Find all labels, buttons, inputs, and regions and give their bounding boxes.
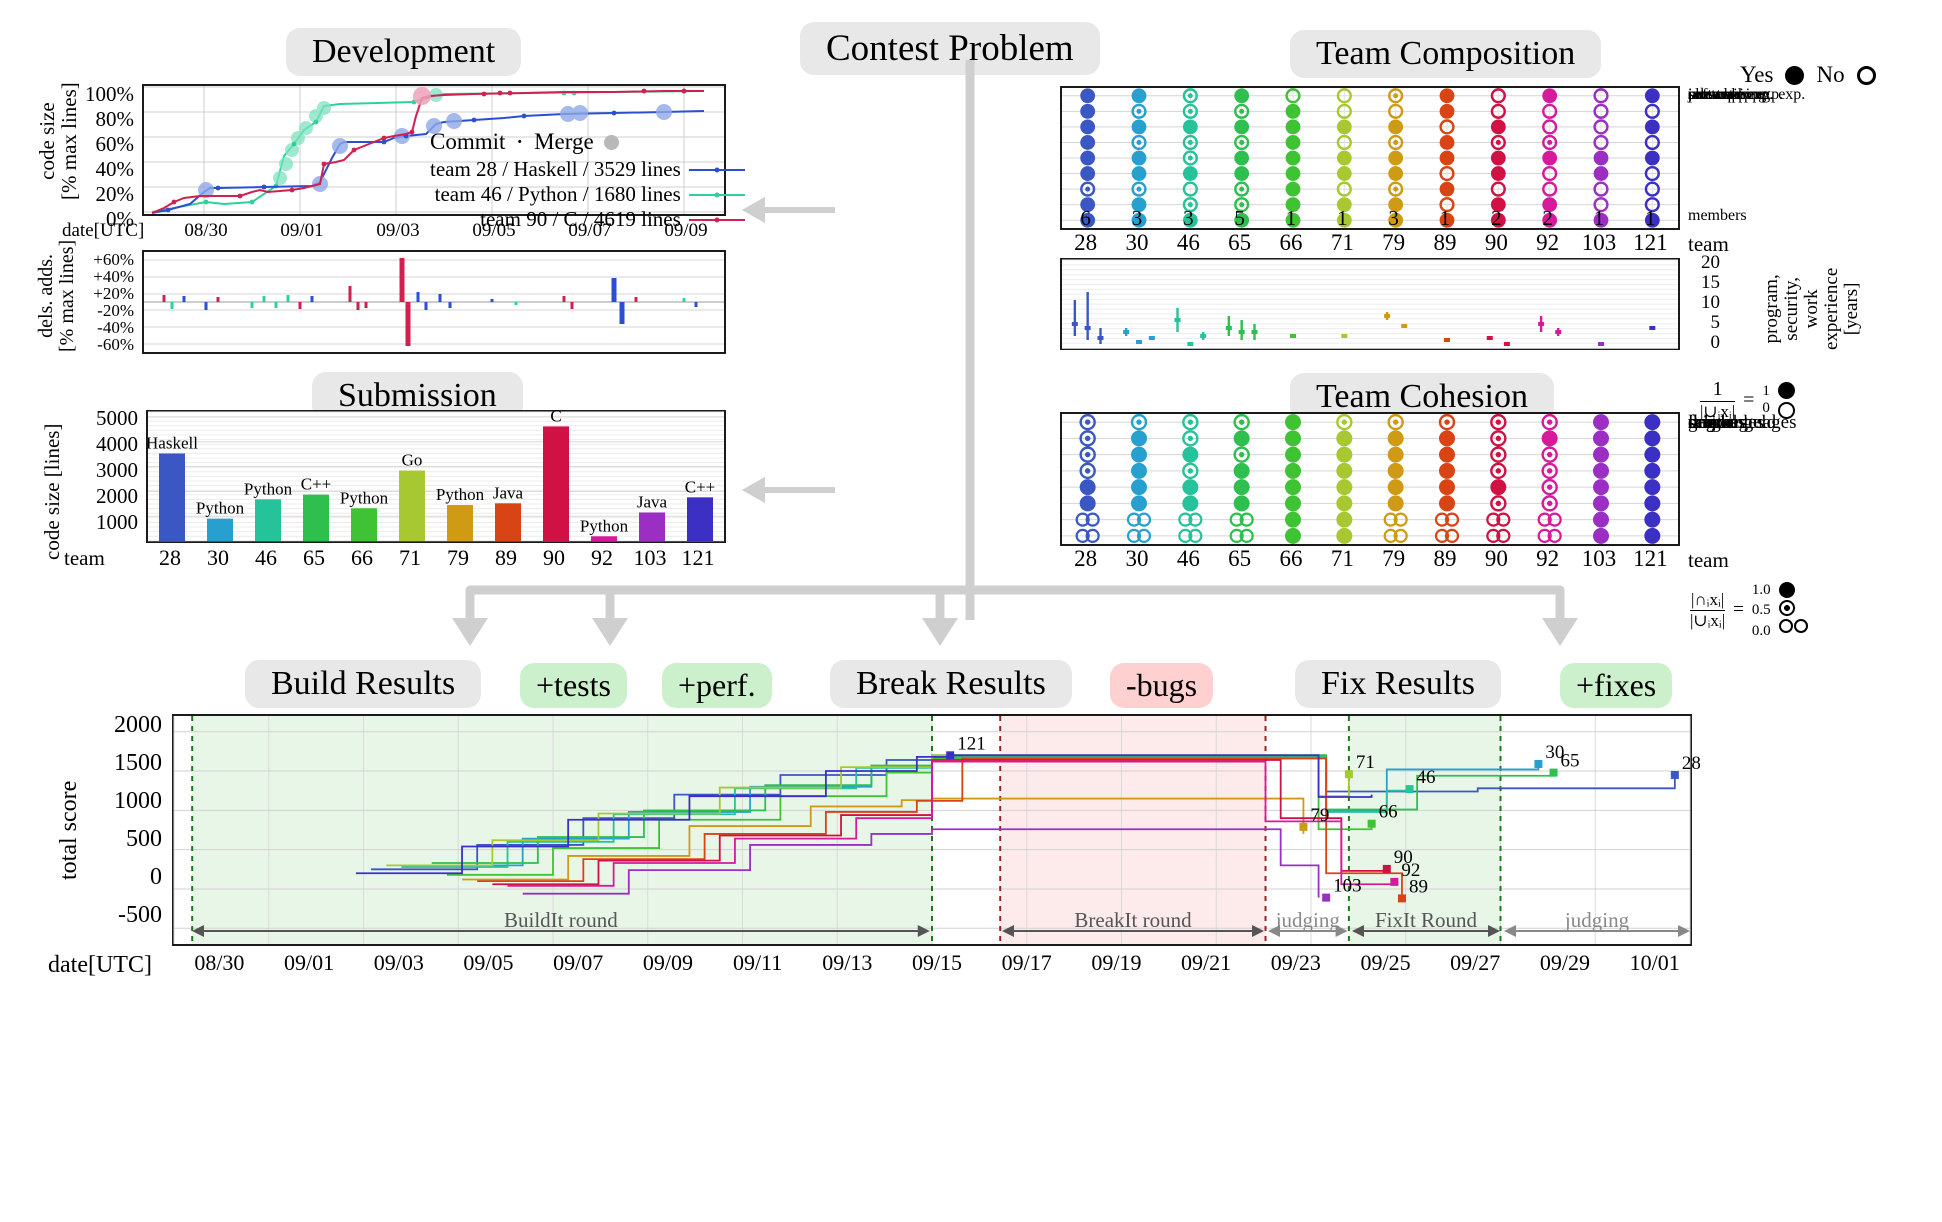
filled-circle-icon bbox=[1388, 447, 1404, 463]
filled-circle-icon bbox=[1286, 135, 1301, 150]
filled-circle-icon bbox=[1131, 495, 1147, 511]
filled-circle-icon bbox=[1080, 479, 1096, 495]
filled-circle-icon bbox=[1080, 104, 1095, 119]
panel-title-contest-problem: Contest Problem bbox=[800, 22, 1100, 75]
timeline-endpoint-marker bbox=[946, 751, 954, 759]
composition-team-tick: 66 bbox=[1280, 230, 1303, 256]
filled-circle-icon bbox=[1440, 88, 1455, 103]
tag-bugs: -bugs bbox=[1110, 663, 1213, 708]
composition-team-tick: 30 bbox=[1126, 230, 1149, 256]
inter-formula-num: |∩ᵢxᵢ| bbox=[1690, 590, 1725, 611]
timeline-xtick: 09/01 bbox=[284, 950, 334, 976]
timeline-endpoint-label: 121 bbox=[957, 733, 986, 754]
filled-circle-icon bbox=[1593, 479, 1609, 495]
filled-circle-icon bbox=[1285, 414, 1301, 430]
filled-circle-icon bbox=[1439, 463, 1455, 479]
filled-circle-icon bbox=[1080, 166, 1095, 181]
filled-circle-icon bbox=[1388, 151, 1403, 166]
round-label: BreakIt round bbox=[1075, 908, 1193, 932]
round-label: judging bbox=[1275, 908, 1341, 932]
inter-eq: = bbox=[1733, 599, 1744, 621]
submission-xlabel: team bbox=[64, 546, 105, 571]
composition-team-tick: 89 bbox=[1434, 230, 1457, 256]
cohesion-row-label: languages bbox=[1688, 412, 1764, 434]
development-legend-entry: team 46 / Python / 1680 lines bbox=[430, 182, 745, 207]
filled-circle-icon bbox=[1440, 182, 1455, 197]
filled-circle-icon bbox=[1286, 166, 1301, 181]
filled-circle-icon bbox=[1593, 414, 1609, 430]
filled-circle-icon bbox=[1336, 495, 1352, 511]
submission-bar-language: Python bbox=[436, 485, 485, 504]
cohesion-team-tick: 65 bbox=[1228, 546, 1251, 572]
experience-median bbox=[1341, 334, 1347, 338]
filled-circle-icon bbox=[1286, 182, 1301, 197]
panel-title-build-results: Build Results bbox=[245, 660, 481, 708]
filled-circle-icon bbox=[1439, 447, 1455, 463]
filled-circle-icon bbox=[1285, 463, 1301, 479]
filled-circle-icon bbox=[1234, 495, 1250, 511]
filled-circle-icon bbox=[1440, 151, 1455, 166]
legend-entry-label: team 28 / Haskell / 3529 lines bbox=[430, 157, 681, 182]
tag-perf: +perf. bbox=[662, 663, 772, 708]
filled-circle-icon bbox=[1785, 66, 1804, 85]
filled-circle-icon bbox=[1336, 512, 1352, 528]
filled-circle-icon bbox=[1131, 463, 1147, 479]
filled-circle-icon bbox=[1644, 479, 1660, 495]
filled-circle-icon bbox=[1132, 166, 1147, 181]
composition-team-tick: 121 bbox=[1633, 230, 1668, 256]
filled-circle-icon bbox=[1132, 119, 1147, 134]
timeline-endpoint-label: 66 bbox=[1379, 802, 1398, 823]
experience-plot bbox=[1060, 258, 1680, 350]
tag-fixes: +fixes bbox=[1560, 663, 1672, 708]
submission-bar-language: C++ bbox=[301, 475, 332, 494]
filled-circle-icon bbox=[1132, 151, 1147, 166]
submission-bar-language: Python bbox=[244, 479, 293, 498]
submission-xtick: 71 bbox=[399, 545, 421, 571]
filled-circle-icon bbox=[1490, 479, 1506, 495]
submission-bar-language: Python bbox=[580, 516, 629, 535]
filled-circle-icon bbox=[1131, 479, 1147, 495]
submission-xtick: 28 bbox=[159, 545, 181, 571]
timeline-endpoint-marker bbox=[1368, 820, 1376, 828]
team-cohesion-team-label: team bbox=[1688, 548, 1729, 573]
filled-circle-icon bbox=[1593, 463, 1609, 479]
filled-circle-icon bbox=[1182, 447, 1198, 463]
filled-circle-icon bbox=[1285, 528, 1301, 544]
submission-bar bbox=[687, 497, 713, 541]
development-xlabel: date[UTC] bbox=[62, 220, 144, 242]
timeline-endpoint-marker bbox=[1671, 771, 1679, 779]
filled-circle-icon bbox=[1388, 119, 1403, 134]
timeline-endpoint-label: 103 bbox=[1333, 876, 1362, 897]
composition-team-tick: 46 bbox=[1177, 230, 1200, 256]
deltas-ytick: -60% bbox=[97, 335, 134, 355]
filled-circle-icon bbox=[1234, 166, 1249, 181]
round-label: judging bbox=[1564, 908, 1630, 932]
cohesion-team-tick: 28 bbox=[1074, 546, 1097, 572]
timeline-xtick: 09/07 bbox=[553, 950, 603, 976]
filled-circle-icon bbox=[1644, 430, 1660, 446]
timeline-endpoint-marker bbox=[1383, 865, 1391, 873]
submission-bar-language: Java bbox=[493, 483, 524, 502]
development-legend: Commit · Merge team 28 / Haskell / 3529 … bbox=[430, 127, 745, 232]
timeline-ytick: -500 bbox=[118, 902, 162, 929]
timeline-endpoint-marker bbox=[1550, 769, 1558, 777]
filled-circle-icon bbox=[1336, 479, 1352, 495]
experience-median bbox=[1175, 318, 1181, 322]
filled-circle-icon bbox=[1644, 495, 1660, 511]
member-count: 3 bbox=[1132, 206, 1143, 231]
submission-bar-language: C bbox=[550, 406, 561, 425]
development-legend-entry: team 28 / Haskell / 3529 lines bbox=[430, 157, 745, 182]
cohesion-team-tick: 79 bbox=[1382, 546, 1405, 572]
panel-title-development: Development bbox=[286, 28, 521, 76]
round-arrow-icon: judging bbox=[1502, 905, 1692, 941]
arrow-to-submission bbox=[730, 470, 850, 510]
open-circle-icon bbox=[1857, 66, 1876, 85]
experience-ytick: 5 bbox=[1711, 312, 1721, 334]
cohesion-team-tick: 89 bbox=[1434, 546, 1457, 572]
filled-circle-icon bbox=[1593, 447, 1609, 463]
filled-circle-icon bbox=[1645, 119, 1660, 134]
legend-no-label: No bbox=[1816, 62, 1844, 88]
submission-bar bbox=[159, 453, 185, 541]
cohesion-team-tick: 66 bbox=[1280, 546, 1303, 572]
team-cohesion-plot bbox=[1060, 412, 1680, 546]
submission-plot: HaskellPythonPythonC++PythonGoPythonJava… bbox=[146, 410, 726, 543]
inter-formula-den: |∪ᵢxᵢ| bbox=[1690, 611, 1725, 631]
timeline-xtick: 09/13 bbox=[822, 950, 872, 976]
submission-bar bbox=[351, 508, 377, 541]
filled-circle-icon bbox=[1337, 151, 1352, 166]
filled-circle-icon bbox=[1080, 495, 1096, 511]
experience-median bbox=[1555, 330, 1561, 334]
development-ytick: 40% bbox=[96, 157, 135, 182]
filled-circle-icon bbox=[1440, 135, 1455, 150]
composition-team-tick: 90 bbox=[1485, 230, 1508, 256]
filled-circle-icon bbox=[1234, 479, 1250, 495]
composition-row-label: class exp. bbox=[1688, 86, 1750, 104]
experience-median bbox=[1085, 326, 1091, 330]
submission-bar-language: Python bbox=[340, 488, 389, 507]
timeline-xtick: 09/11 bbox=[733, 950, 782, 976]
timeline-round: BreakIt round bbox=[1000, 905, 1266, 941]
submission-xtick: 46 bbox=[255, 545, 277, 571]
filled-circle-icon bbox=[1644, 414, 1660, 430]
timeline-xtick: 09/27 bbox=[1450, 950, 1500, 976]
submission-xtick: 30 bbox=[207, 545, 229, 571]
timeline-endpoint-label: 65 bbox=[1561, 751, 1580, 772]
filled-circle-icon bbox=[1131, 447, 1147, 463]
timeline-xtick: 09/29 bbox=[1540, 950, 1590, 976]
filled-circle-icon bbox=[1440, 104, 1455, 119]
filled-circle-icon bbox=[1439, 430, 1455, 446]
cohesion-team-tick: 103 bbox=[1582, 546, 1617, 572]
submission-ytick: 2000 bbox=[96, 484, 138, 509]
filled-circle-icon bbox=[1439, 495, 1455, 511]
experience-median bbox=[1187, 342, 1193, 346]
timeline-xtick: 09/25 bbox=[1360, 950, 1410, 976]
inter-legend-value: 0.0 bbox=[1752, 621, 1771, 641]
legend-entry-label: team 46 / Python / 1680 lines bbox=[435, 182, 681, 207]
filled-circle-icon bbox=[1336, 528, 1352, 544]
timeline-endpoint-marker bbox=[1322, 894, 1330, 902]
timeline-endpoint-marker bbox=[1534, 760, 1542, 768]
development-xtick: 09/01 bbox=[280, 220, 323, 242]
filled-circle-icon bbox=[1336, 447, 1352, 463]
timeline-xtick: 09/05 bbox=[463, 950, 513, 976]
timeline-ytick: 1000 bbox=[114, 788, 162, 815]
development-xtick: 08/30 bbox=[184, 220, 227, 242]
composition-team-tick: 65 bbox=[1228, 230, 1251, 256]
timeline-endpoint-label: 89 bbox=[1409, 876, 1428, 897]
legend-commit-label: Commit bbox=[430, 129, 505, 155]
experience-ytick: 10 bbox=[1701, 292, 1720, 314]
development-ytick: 80% bbox=[96, 107, 135, 132]
development-xtick: 09/09 bbox=[664, 220, 707, 242]
filled-circle-icon bbox=[1234, 463, 1250, 479]
experience-median bbox=[1252, 330, 1258, 334]
timeline-round-labels: BuildIt roundBreakIt roundjudgingFixIt R… bbox=[172, 905, 1692, 945]
submission-bar-language: Python bbox=[196, 499, 245, 518]
filled-circle-icon bbox=[1594, 151, 1609, 166]
filled-circle-icon bbox=[1234, 88, 1249, 103]
filled-circle-icon bbox=[1337, 119, 1352, 134]
timeline-round: judging bbox=[1502, 905, 1692, 941]
development-xtick: 09/03 bbox=[376, 220, 419, 242]
timeline-endpoint-label: 71 bbox=[1356, 752, 1375, 773]
member-count: 1 bbox=[1594, 206, 1605, 231]
member-count: 6 bbox=[1080, 206, 1091, 231]
timeline-endpoint-marker bbox=[1406, 785, 1414, 793]
submission-xtick: 65 bbox=[303, 545, 325, 571]
experience-median bbox=[1444, 338, 1450, 342]
timeline-endpoint-marker bbox=[1390, 878, 1398, 886]
filled-circle-icon bbox=[1644, 512, 1660, 528]
filled-circle-icon bbox=[1285, 495, 1301, 511]
arrows-to-results bbox=[430, 560, 1630, 670]
legend-yes-label: Yes bbox=[1740, 62, 1773, 88]
cohesion-team-tick: 90 bbox=[1485, 546, 1508, 572]
experience-median bbox=[1123, 330, 1129, 334]
team-composition-legend: Yes No bbox=[1740, 62, 1876, 88]
filled-circle-icon bbox=[1388, 166, 1403, 181]
submission-bar-language: Java bbox=[637, 492, 668, 511]
arrow-to-development bbox=[730, 190, 850, 230]
member-count: 1 bbox=[1645, 206, 1656, 231]
submission-bar bbox=[255, 499, 281, 541]
panel-title-break-results: Break Results bbox=[830, 660, 1072, 708]
timeline-endpoint-marker bbox=[1398, 894, 1406, 902]
timeline-xtick: 09/17 bbox=[1002, 950, 1052, 976]
member-count: 1 bbox=[1440, 206, 1451, 231]
timeline-xtick: 09/03 bbox=[374, 950, 424, 976]
timeline-xtick: 09/15 bbox=[912, 950, 962, 976]
filled-circle-icon bbox=[1285, 479, 1301, 495]
submission-bar bbox=[495, 503, 521, 541]
development-ytick: 60% bbox=[96, 132, 135, 157]
filled-circle-icon bbox=[1336, 430, 1352, 446]
double-open-circle-icon bbox=[1779, 618, 1809, 639]
cohesion-team-tick: 30 bbox=[1126, 546, 1149, 572]
filled-circle-icon bbox=[1336, 463, 1352, 479]
submission-bar bbox=[399, 471, 425, 541]
submission-xtick: 66 bbox=[351, 545, 373, 571]
composition-team-tick: 79 bbox=[1382, 230, 1405, 256]
filled-circle-icon bbox=[1131, 430, 1147, 446]
submission-bar bbox=[543, 426, 569, 541]
submission-ytick: 4000 bbox=[96, 432, 138, 457]
experience-median bbox=[1401, 324, 1407, 328]
timeline-xtick: 09/21 bbox=[1181, 950, 1231, 976]
experience-median bbox=[1226, 326, 1232, 330]
timeline-endpoint-label: 79 bbox=[1310, 805, 1329, 826]
filled-circle-icon bbox=[1542, 88, 1557, 103]
timeline-round: BuildIt round bbox=[190, 905, 932, 941]
filled-circle-icon bbox=[1644, 463, 1660, 479]
submission-bar-language: Go bbox=[402, 451, 423, 470]
submission-ylabel: code size [lines] bbox=[40, 424, 65, 560]
panel-title-fix-results: Fix Results bbox=[1295, 660, 1501, 708]
filled-circle-icon bbox=[1542, 151, 1557, 166]
filled-circle-icon bbox=[1388, 430, 1404, 446]
cohesion-team-tick: 92 bbox=[1536, 546, 1559, 572]
timeline-endpoint-marker bbox=[1345, 770, 1353, 778]
experience-median bbox=[1136, 340, 1142, 344]
filled-circle-icon bbox=[1645, 88, 1660, 103]
deltas-plot bbox=[142, 250, 726, 354]
filled-circle-icon bbox=[1183, 119, 1198, 134]
inter-legend-value: 1.0 bbox=[1752, 580, 1771, 600]
submission-bar-language: Haskell bbox=[146, 433, 198, 452]
timeline-xtick: 09/23 bbox=[1271, 950, 1321, 976]
filled-circle-icon bbox=[1285, 512, 1301, 528]
timeline-ylabel: total score bbox=[56, 781, 83, 880]
filled-circle-icon bbox=[1388, 479, 1404, 495]
experience-ytick: 0 bbox=[1711, 332, 1721, 354]
tag-tests: +tests bbox=[520, 663, 627, 708]
composition-team-tick: 71 bbox=[1331, 230, 1354, 256]
filled-circle-icon bbox=[1132, 88, 1147, 103]
legend-merge-label: Merge bbox=[534, 129, 594, 155]
submission-bar bbox=[303, 495, 329, 541]
composition-team-tick: 103 bbox=[1582, 230, 1617, 256]
union-eq: = bbox=[1743, 389, 1754, 412]
inter-legend-value: 0.5 bbox=[1752, 600, 1771, 620]
round-arrow-icon: judging bbox=[1266, 905, 1350, 941]
experience-median bbox=[1072, 322, 1078, 326]
filled-circle-icon bbox=[1491, 151, 1506, 166]
development-xtick: 09/05 bbox=[472, 220, 515, 242]
development-xtick: 09/07 bbox=[568, 220, 611, 242]
filled-circle-icon bbox=[1644, 528, 1660, 544]
filled-circle-icon bbox=[1286, 151, 1301, 166]
cohesion-team-tick: 71 bbox=[1331, 546, 1354, 572]
submission-ytick: 1000 bbox=[96, 510, 138, 535]
filled-circle-icon bbox=[1778, 382, 1795, 399]
timeline-ytick: 500 bbox=[126, 826, 162, 853]
experience-median bbox=[1487, 336, 1493, 340]
union-formula-num: 1 bbox=[1700, 378, 1735, 402]
commit-dot-icon: · bbox=[515, 127, 524, 157]
timeline-xlabel: date[UTC] bbox=[48, 952, 152, 979]
development-ylabel: code size[% max lines] bbox=[36, 82, 80, 200]
submission-bar bbox=[591, 536, 617, 541]
panel-title-team-composition: Team Composition bbox=[1290, 30, 1601, 78]
round-arrow-icon: BreakIt round bbox=[1000, 905, 1266, 941]
submission-ytick: 3000 bbox=[96, 458, 138, 483]
merge-dot-icon bbox=[604, 135, 619, 150]
experience-median bbox=[1200, 334, 1206, 338]
experience-median bbox=[1290, 334, 1296, 338]
team-composition-members-label: members bbox=[1688, 207, 1747, 225]
timeline-endpoint-label: 46 bbox=[1417, 767, 1436, 788]
experience-ylabel: program,security,workexperience[years] bbox=[1762, 268, 1862, 350]
filled-circle-icon bbox=[1286, 119, 1301, 134]
round-arrow-icon: FixIt Round bbox=[1350, 905, 1502, 941]
filled-circle-icon bbox=[1183, 166, 1198, 181]
filled-circle-icon bbox=[1439, 479, 1455, 495]
submission-bar bbox=[207, 519, 233, 541]
filled-circle-icon bbox=[1644, 447, 1660, 463]
timeline-endpoint-label: 28 bbox=[1682, 753, 1701, 774]
filled-circle-icon bbox=[1080, 119, 1095, 134]
experience-median bbox=[1504, 342, 1510, 346]
filled-circle-icon bbox=[1234, 151, 1249, 166]
experience-median bbox=[1098, 336, 1104, 340]
development-ytick: 20% bbox=[96, 182, 135, 207]
filled-circle-icon bbox=[1285, 430, 1301, 446]
member-count: 2 bbox=[1542, 206, 1553, 231]
filled-circle-icon bbox=[1593, 528, 1609, 544]
timeline-xtick: 08/30 bbox=[194, 950, 244, 976]
timeline-round: judging bbox=[1266, 905, 1350, 941]
timeline-xtick: 09/09 bbox=[643, 950, 693, 976]
member-count: 5 bbox=[1234, 206, 1245, 231]
composition-team-tick: 92 bbox=[1536, 230, 1559, 256]
member-count: 2 bbox=[1491, 206, 1502, 231]
experience-ytick: 20 bbox=[1701, 252, 1720, 274]
submission-ytick: 5000 bbox=[96, 406, 138, 431]
filled-circle-icon bbox=[1285, 447, 1301, 463]
deltas-ylabel: dels. adds.[% max lines] bbox=[36, 240, 78, 352]
timeline-round: FixIt Round bbox=[1350, 905, 1502, 941]
filled-circle-icon bbox=[1080, 151, 1095, 166]
filled-circle-icon bbox=[1593, 495, 1609, 511]
filled-circle-icon bbox=[1234, 430, 1250, 446]
cohesion-team-tick: 46 bbox=[1177, 546, 1200, 572]
submission-bar bbox=[447, 505, 473, 541]
member-count: 1 bbox=[1286, 206, 1297, 231]
member-count: 1 bbox=[1337, 206, 1348, 231]
filled-circle-icon bbox=[1080, 135, 1095, 150]
experience-ytick: 15 bbox=[1701, 272, 1720, 294]
submission-bar bbox=[639, 512, 665, 541]
composition-team-tick: 28 bbox=[1074, 230, 1097, 256]
timeline-xtick: 10/01 bbox=[1630, 950, 1680, 976]
filled-circle-icon bbox=[1542, 430, 1558, 446]
filled-circle-icon bbox=[1491, 166, 1506, 181]
half-circle-icon bbox=[1779, 600, 1795, 616]
experience-median bbox=[1538, 322, 1544, 326]
filled-circle-icon bbox=[1286, 104, 1301, 119]
filled-circle-icon bbox=[1593, 430, 1609, 446]
cohesion-intersection-legend: |∩ᵢxᵢ| |∪ᵢxᵢ| = 1.00.50.0 bbox=[1690, 580, 1808, 641]
legend-line-swatch bbox=[689, 164, 745, 176]
experience-median bbox=[1149, 336, 1155, 340]
filled-circle-icon bbox=[1779, 582, 1795, 598]
